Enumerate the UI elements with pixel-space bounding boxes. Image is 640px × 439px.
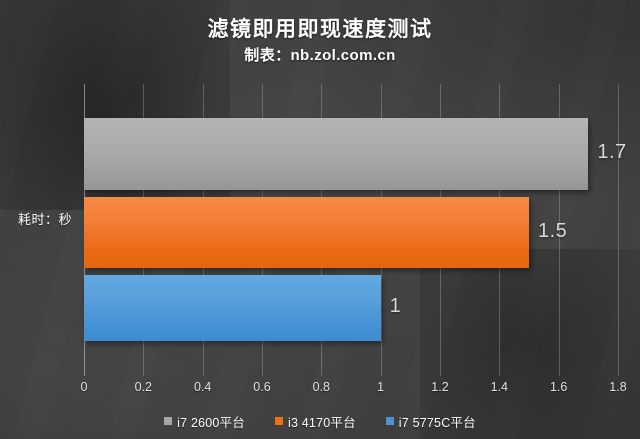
x-tick-label: 0.8 [313,380,330,394]
x-tick-label: 1.8 [609,380,626,394]
chart-legend: i7 2600平台i3 4170平台i7 5775C平台 [0,411,640,431]
legend-item-label: i3 4170平台 [288,412,356,431]
x-tick-label: 0.4 [194,380,211,394]
bar-2 [84,197,529,268]
bar-value-label: 1 [390,295,402,318]
legend-item[interactable]: i7 5775C平台 [386,412,476,431]
legend-item-label: i7 2600平台 [177,412,245,431]
chart-title: 滤镜即用即现速度测试 [0,13,640,43]
bar-3 [84,275,381,341]
x-tick-label: 1 [377,380,384,394]
x-tick-label: 0.6 [253,380,270,394]
plot-area: 1.71.51 [84,84,618,376]
category-axis-label: 耗时：秒 [6,209,84,228]
x-tick-label: 0.2 [135,380,152,394]
legend-swatch-icon [275,417,283,425]
legend-item[interactable]: i3 4170平台 [275,412,356,431]
legend-swatch-icon [386,417,394,425]
x-tick-label: 1.6 [550,380,567,394]
legend-item[interactable]: i7 2600平台 [164,412,245,431]
legend-swatch-icon [164,417,172,425]
bar-value-label: 1.5 [538,220,567,243]
chart-subtitle: 制表：nb.zol.com.cn [0,44,640,65]
bar-1 [84,118,588,190]
legend-item-label: i7 5775C平台 [399,412,476,431]
x-tick-label: 0 [81,380,88,394]
gridline [618,84,619,376]
x-tick-label: 1.4 [491,380,508,394]
chart-container: 滤镜即用即现速度测试 制表：nb.zol.com.cn 耗时：秒 1.71.51… [0,0,640,439]
x-tick-label: 1.2 [431,380,448,394]
bar-value-label: 1.7 [597,141,626,164]
